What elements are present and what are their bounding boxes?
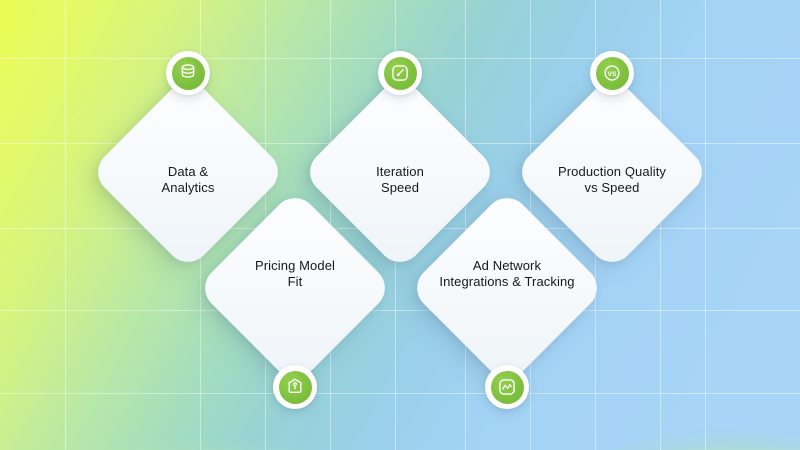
icon-badge[interactable] [273,365,317,409]
icon-badge[interactable] [485,365,529,409]
gauge-icon [390,63,410,83]
vs-badge-icon [602,63,622,83]
icon-badge-circle [172,57,205,90]
database-icon [178,63,198,83]
icon-badge-circle [491,371,524,404]
icon-badge[interactable] [590,51,634,95]
activity-chart-icon [497,377,517,397]
icon-badge-circle [279,371,312,404]
icon-badge-circle [596,57,629,90]
icon-badge-circle [384,57,417,90]
price-tag-icon [285,377,305,397]
icon-badge[interactable] [378,51,422,95]
infographic-canvas: Data & AnalyticsIteration SpeedProductio… [0,0,800,450]
icon-badge[interactable] [166,51,210,95]
